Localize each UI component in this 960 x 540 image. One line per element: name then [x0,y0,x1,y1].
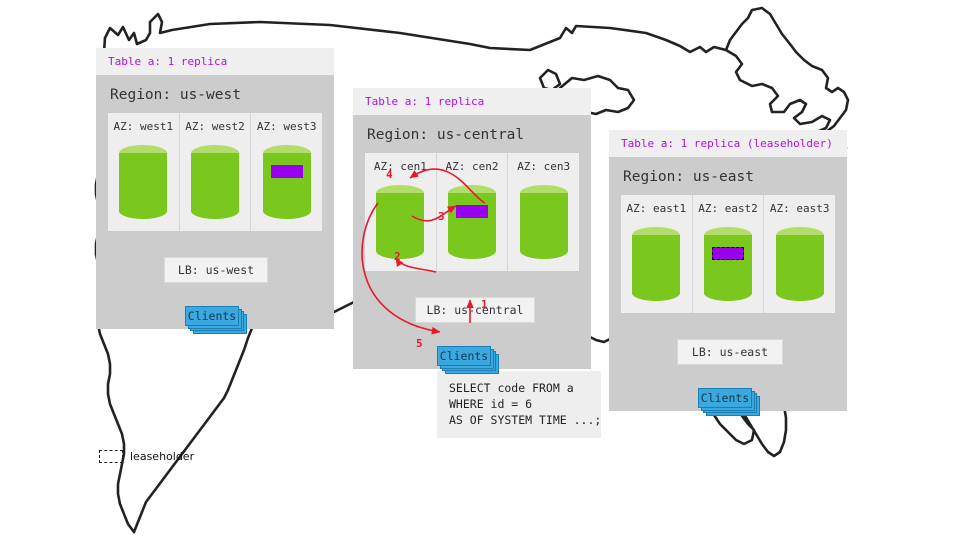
legend-leaseholder: leaseholder [99,450,194,463]
az-label-west3: AZ: west3 [251,120,322,133]
az-label-east2: AZ: east2 [693,202,764,215]
load-balancer-us-east[interactable]: LB: us-east [677,339,783,365]
step-number-4: 4 [386,168,393,181]
clients-us-east[interactable]: Clients [698,388,766,416]
clients-us-central[interactable]: Clients [437,346,505,374]
node-cen3[interactable] [508,173,579,275]
step-number-2: 2 [394,250,401,263]
clients-label-us-central: Clients [437,346,491,366]
load-balancer-us-central[interactable]: LB: us-central [415,297,535,323]
region-body-us-east: Region: us-east AZ: east1 AZ: east2 [609,157,847,411]
step-number-1: 1 [481,298,488,311]
diagram-canvas: Table a: 1 replica Region: us-west AZ: w… [0,0,960,540]
node-west3[interactable] [251,133,322,235]
legend-label: leaseholder [130,450,194,463]
node-east2[interactable] [693,215,764,317]
az-west2[interactable]: AZ: west2 [180,113,252,231]
region-body-us-west: Region: us-west AZ: west1 AZ: west2 [96,75,334,329]
sql-query-box: SELECT code FROM a WHERE id = 6 AS OF SY… [437,371,601,438]
dashed-rect-icon [99,450,123,463]
az-west3[interactable]: AZ: west3 [251,113,322,231]
clients-label-us-east: Clients [698,388,752,408]
az-row-us-east: AZ: east1 AZ: east2 [621,195,835,313]
step-number-3: 3 [438,210,445,223]
region-label-us-central: Region: us-central [353,115,591,153]
az-east1[interactable]: AZ: east1 [621,195,693,313]
region-panel-us-central: Table a: 1 replica Region: us-central AZ… [353,88,591,372]
region-banner-us-central: Table a: 1 replica [353,88,591,115]
replica-block-east2-leaseholder [712,247,744,260]
node-east1[interactable] [621,215,692,317]
clients-label-us-west: Clients [185,306,239,326]
region-panel-us-east: Table a: 1 replica (leaseholder) Region:… [609,130,847,414]
az-cen3[interactable]: AZ: cen3 [508,153,579,271]
az-label-east1: AZ: east1 [621,202,692,215]
region-body-us-central: Region: us-central AZ: cen1 AZ: cen2 [353,115,591,369]
region-label-us-west: Region: us-west [96,75,334,113]
replica-block-cen2 [456,205,488,218]
region-label-us-east: Region: us-east [609,157,847,195]
az-row-us-west: AZ: west1 AZ: west2 [108,113,322,231]
az-west1[interactable]: AZ: west1 [108,113,180,231]
az-label-east3: AZ: east3 [764,202,835,215]
node-cen2[interactable] [437,173,508,275]
node-west2[interactable] [180,133,251,235]
az-cen2[interactable]: AZ: cen2 [437,153,509,271]
replica-block-west3 [271,165,303,178]
az-cen1[interactable]: AZ: cen1 [365,153,437,271]
az-east3[interactable]: AZ: east3 [764,195,835,313]
region-banner-us-west: Table a: 1 replica [96,48,334,75]
region-panel-us-west: Table a: 1 replica Region: us-west AZ: w… [96,48,334,332]
az-east2[interactable]: AZ: east2 [693,195,765,313]
az-label-cen1: AZ: cen1 [365,160,436,173]
region-banner-us-east: Table a: 1 replica (leaseholder) [609,130,847,157]
az-label-cen3: AZ: cen3 [508,160,579,173]
step-number-5: 5 [416,337,423,350]
az-label-west1: AZ: west1 [108,120,179,133]
load-balancer-us-west[interactable]: LB: us-west [164,257,268,283]
az-label-west2: AZ: west2 [180,120,251,133]
az-label-cen2: AZ: cen2 [437,160,508,173]
clients-us-west[interactable]: Clients [185,306,253,334]
node-east3[interactable] [764,215,835,317]
node-west1[interactable] [108,133,179,235]
